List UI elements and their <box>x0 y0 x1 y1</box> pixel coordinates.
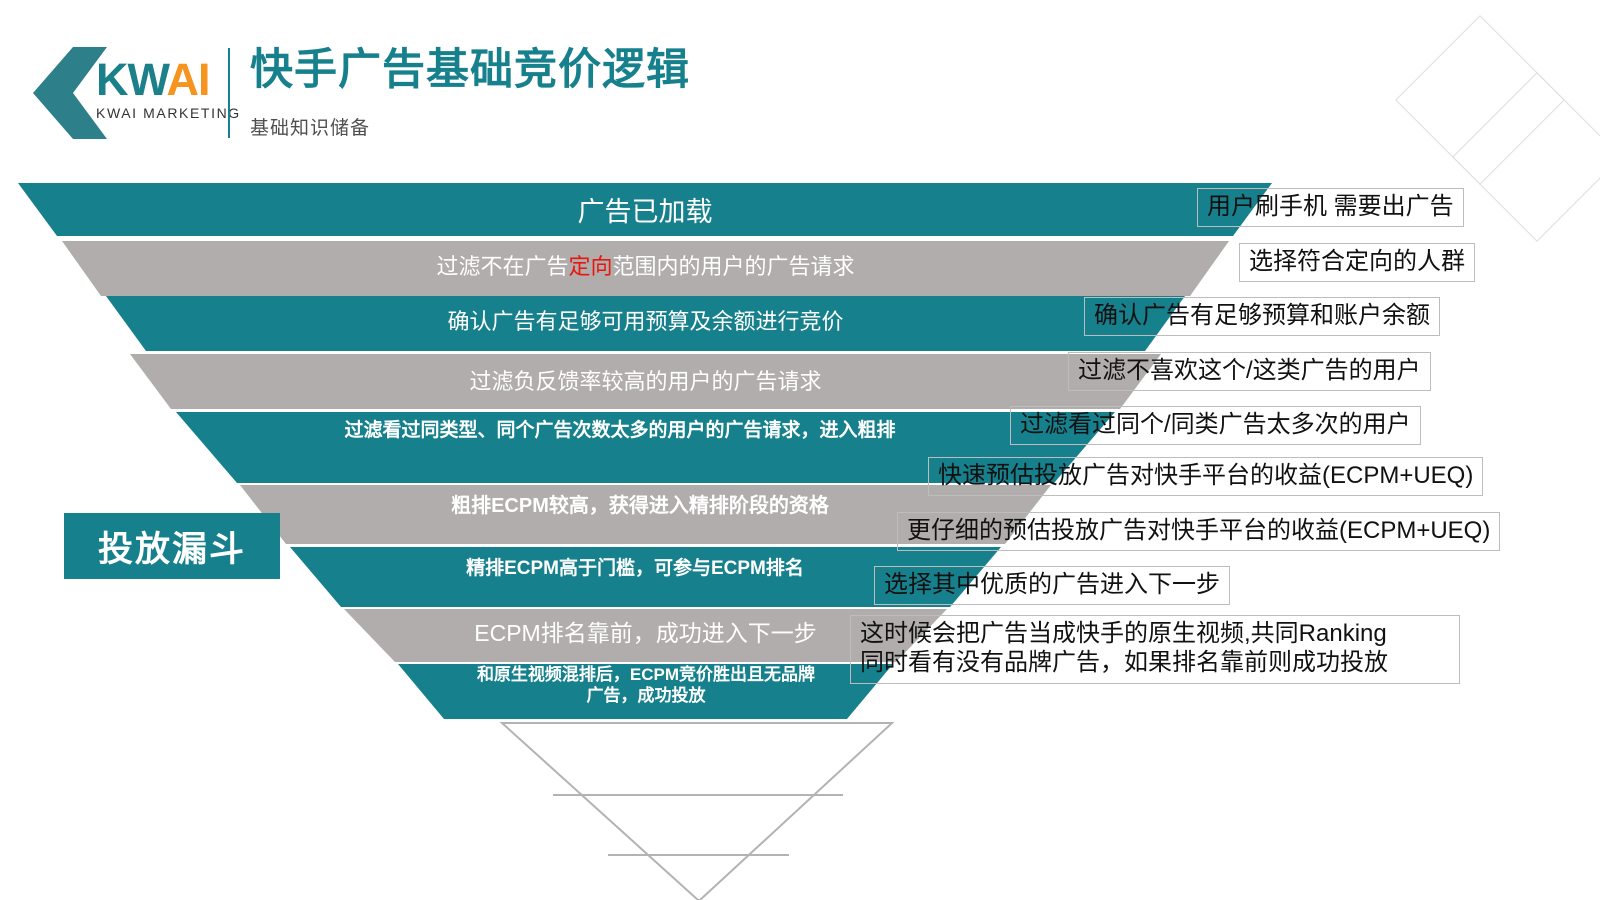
funnel-tag-label: 投放漏斗 <box>64 513 280 579</box>
funnel-band-9 <box>398 664 893 719</box>
callout-2: 选择符合定向的人群 <box>1239 243 1475 282</box>
callout-6: 快速预估投放广告对快手平台的收益(ECPM+UEQ) <box>928 457 1483 496</box>
callout-1: 用户刷手机 需要出广告 <box>1197 188 1464 227</box>
callout-7: 更仔细的预估投放广告对快手平台的收益(ECPM+UEQ) <box>897 512 1500 551</box>
funnel-band-1 <box>18 183 1272 236</box>
funnel-band-2 <box>62 241 1229 296</box>
callout-9-line-1: 这时候会把广告当成快手的原生视频,共同Ranking <box>860 619 1450 648</box>
funnel-band-4 <box>130 354 1161 409</box>
callout-8: 选择其中优质的广告进入下一步 <box>874 566 1230 605</box>
callout-4: 过滤不喜欢这个/这类广告的用户 <box>1068 352 1431 391</box>
callout-3: 确认广告有足够预算和账户余额 <box>1084 297 1440 336</box>
funnel-diagram <box>0 0 1600 900</box>
funnel-band-3 <box>106 296 1185 351</box>
callout-5: 过滤看过同个/同类广告太多次的用户 <box>1010 406 1421 445</box>
funnel-ghost-outline <box>502 723 892 900</box>
callout-9: 这时候会把广告当成快手的原生视频,共同Ranking 同时看有没有品牌广告，如果… <box>850 615 1460 684</box>
callout-9-line-2: 同时看有没有品牌广告，如果排名靠前则成功投放 <box>860 648 1450 677</box>
